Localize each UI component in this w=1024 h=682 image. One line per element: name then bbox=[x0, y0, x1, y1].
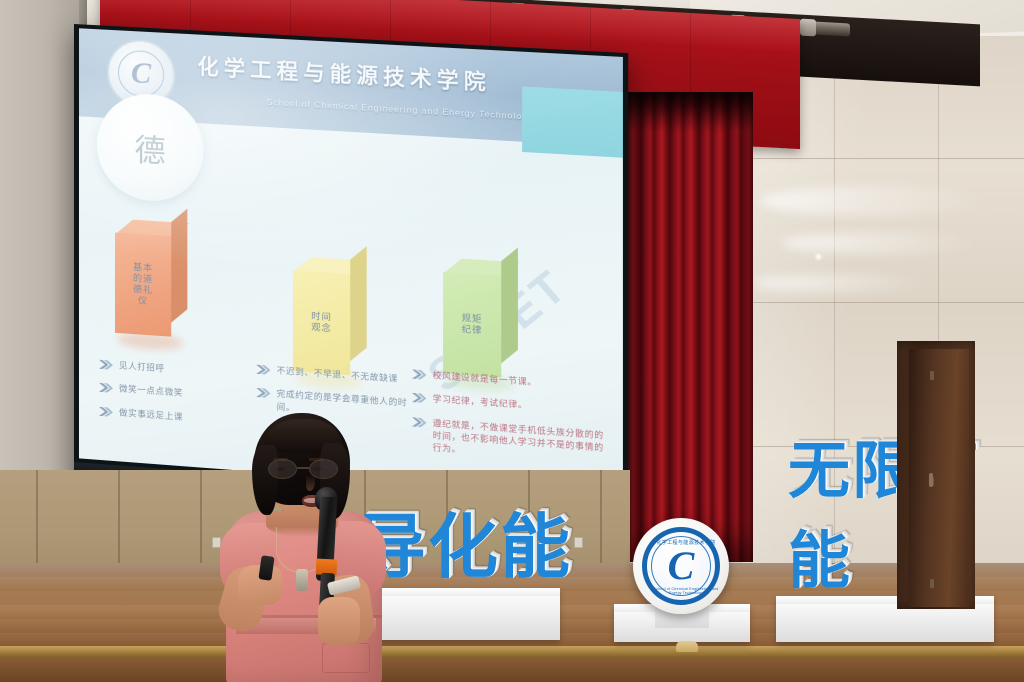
chevron-right-icon bbox=[256, 387, 270, 399]
bullet-text: 校风建设就是每一节课。 bbox=[433, 369, 537, 389]
bullet-item: 遵纪就是，不做课堂手机低头族分散的的时间，也不影响他人学习并不是的事情的行为。 bbox=[412, 415, 606, 467]
door-handle[interactable] bbox=[929, 473, 933, 487]
necklace-pendant bbox=[296, 569, 308, 591]
chevron-right-icon bbox=[412, 392, 426, 404]
speaker-person bbox=[214, 415, 390, 682]
chevron-right-icon bbox=[99, 359, 113, 371]
lecture-hall-scene: C 化学工程与能源技术学院 School of Chemical Enginee… bbox=[0, 0, 1024, 682]
wall-light-reflection bbox=[814, 252, 823, 261]
slide-box-2-label: 时间观念 bbox=[311, 311, 331, 335]
bullet-text: 做实事远足上课 bbox=[119, 406, 183, 423]
hair-side-left bbox=[252, 445, 278, 515]
school-logo-letter: C bbox=[118, 49, 164, 98]
pipe-collar bbox=[800, 19, 816, 37]
bullet-item: 校风建设就是每一节课。 bbox=[412, 367, 606, 393]
eye-left bbox=[277, 467, 285, 471]
curtain-top-shadow bbox=[625, 92, 753, 132]
bullet-item: 学习纪律，考试纪律。 bbox=[412, 391, 606, 417]
bullet-item: 见人打招呼 bbox=[99, 358, 250, 381]
slide-box-1-label: 基本的道德礼仪 bbox=[133, 261, 153, 307]
emblem-letter: C bbox=[668, 546, 695, 586]
hand-right bbox=[318, 597, 360, 645]
bullet-text: 遵纪就是，不做课堂手机低头族分散的的时间，也不影响他人学习并不是的事情的行为。 bbox=[433, 416, 606, 466]
bullet-text: 微笑一点点微笑 bbox=[119, 383, 183, 400]
bullet-item: 微笑一点点微笑 bbox=[99, 381, 250, 404]
emblem-arc-bottom: School of Chemical Engineering and Energ… bbox=[647, 587, 725, 595]
emblem-arc-top: 化学工程与能源技术学院 bbox=[647, 539, 725, 546]
school-emblem: 化学工程与能源技术学院 C School of Chemical Enginee… bbox=[633, 518, 729, 614]
chevron-right-icon bbox=[99, 405, 113, 417]
slide-accent-block bbox=[522, 86, 623, 157]
slide-title-chinese: 化学工程与能源技术学院 bbox=[197, 51, 490, 97]
stage-curtain bbox=[625, 92, 753, 562]
chevron-right-icon bbox=[256, 364, 270, 376]
slide-topic-character: 德 bbox=[135, 124, 166, 171]
slide-title-english: School of Chemical Engineering and Energ… bbox=[266, 97, 533, 122]
pedestal-left bbox=[362, 588, 560, 640]
chevron-right-icon bbox=[412, 368, 426, 380]
slide-box-3-label: 规矩纪律 bbox=[462, 312, 483, 336]
slide-bullet-column-3: 校风建设就是每一节课。 学习纪律，考试纪律。 遵纪就是，不做课堂手机低头族分散的… bbox=[412, 367, 606, 478]
door-leaf[interactable] bbox=[909, 349, 969, 607]
dress-pocket bbox=[322, 643, 370, 673]
wall-outlet bbox=[574, 537, 583, 548]
bullet-text: 学习纪律，考试纪律。 bbox=[433, 393, 528, 412]
chevron-right-icon bbox=[412, 416, 426, 428]
stage-prop-object bbox=[676, 641, 698, 652]
bullet-text: 见人打招呼 bbox=[119, 359, 165, 375]
emblem-ring: 化学工程与能源技术学院 C School of Chemical Enginee… bbox=[642, 527, 720, 605]
chevron-right-icon bbox=[99, 382, 113, 394]
stage-apron bbox=[0, 657, 1024, 682]
side-door[interactable] bbox=[897, 341, 975, 609]
eye-right bbox=[313, 467, 321, 471]
